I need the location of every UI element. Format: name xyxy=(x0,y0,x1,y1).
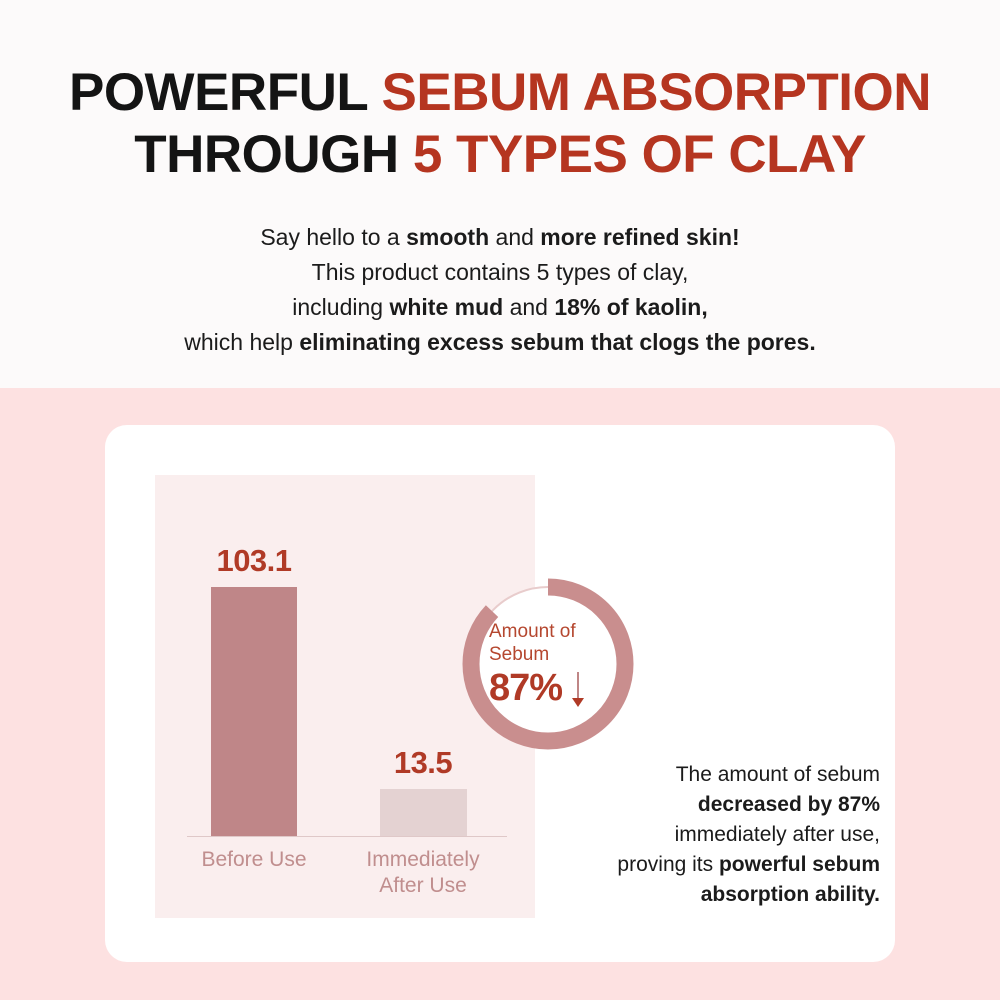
donut-label-group: Amount of Sebum 87% xyxy=(457,573,639,755)
result-line2-bold: decreased by 87% xyxy=(698,793,880,816)
donut-caption-line2: Sebum xyxy=(489,643,549,666)
subcopy-line1-b: smooth xyxy=(406,224,489,250)
donut-percent-row: 87% xyxy=(489,667,585,709)
result-line-2: decreased by 87% xyxy=(560,790,880,820)
page-headline: POWERFUL SEBUM ABSORPTION THROUGH 5 TYPE… xyxy=(0,62,1000,186)
chart-axis-line xyxy=(187,836,507,837)
subcopy-line3-c: and xyxy=(503,294,554,320)
subcopy-line4-b: eliminating excess sebum that clogs the … xyxy=(299,329,815,355)
headline-line2-part2: 5 TYPES OF CLAY xyxy=(413,125,866,184)
donut-caption-line1: Amount of xyxy=(489,620,576,643)
result-line-5: absorption ability. xyxy=(560,880,880,910)
results-bottom-section: 103.1 Before Use 13.5 Immediately After … xyxy=(0,388,1000,1000)
result-paragraph: The amount of sebum decreased by 87% imm… xyxy=(560,760,880,910)
subcopy-line3-d: 18% of kaolin, xyxy=(554,294,707,320)
bar-label-before: Before Use xyxy=(189,847,319,873)
headline-line1-part2: SEBUM ABSORPTION xyxy=(382,63,932,122)
result-line-4: proving its powerful sebum xyxy=(560,850,880,880)
subcopy-line1-a: Say hello to a xyxy=(260,224,406,250)
result-line5-bold: absorption ability. xyxy=(701,883,880,906)
donut-percent-value: 87% xyxy=(489,667,562,709)
result-line4-b: powerful sebum xyxy=(719,853,880,876)
result-line-1: The amount of sebum xyxy=(560,760,880,790)
subcopy-line1-c: and xyxy=(489,224,540,250)
headline-line-2: THROUGH 5 TYPES OF CLAY xyxy=(0,124,1000,186)
headline-line1-part1: POWERFUL xyxy=(69,63,382,122)
hero-top-section: POWERFUL SEBUM ABSORPTION THROUGH 5 TYPE… xyxy=(0,0,1000,388)
result-line-3: immediately after use, xyxy=(560,820,880,850)
subcopy-line3-b: white mud xyxy=(389,294,503,320)
subcopy-line3-a: including xyxy=(292,294,389,320)
subcopy-line-3: including white mud and 18% of kaolin, xyxy=(0,290,1000,325)
subcopy-line1-d: more refined skin! xyxy=(540,224,739,250)
headline-line-1: POWERFUL SEBUM ABSORPTION xyxy=(0,62,1000,124)
bar-after-use xyxy=(380,789,467,836)
headline-line2-part1: THROUGH xyxy=(134,125,413,184)
result-line4-a: proving its xyxy=(617,853,719,876)
hero-subcopy: Say hello to a smooth and more refined s… xyxy=(0,220,1000,360)
sebum-reduction-donut: Amount of Sebum 87% xyxy=(457,573,639,755)
results-card: 103.1 Before Use 13.5 Immediately After … xyxy=(105,425,895,962)
down-arrow-icon xyxy=(571,672,585,708)
subcopy-line-1: Say hello to a smooth and more refined s… xyxy=(0,220,1000,255)
bar-label-after: Immediately After Use xyxy=(358,847,488,899)
subcopy-line4-a: which help xyxy=(184,329,299,355)
bar-before-use xyxy=(211,587,297,836)
subcopy-line-2: This product contains 5 types of clay, xyxy=(0,255,1000,290)
subcopy-line-4: which help eliminating excess sebum that… xyxy=(0,325,1000,360)
bar-value-before: 103.1 xyxy=(199,543,309,579)
